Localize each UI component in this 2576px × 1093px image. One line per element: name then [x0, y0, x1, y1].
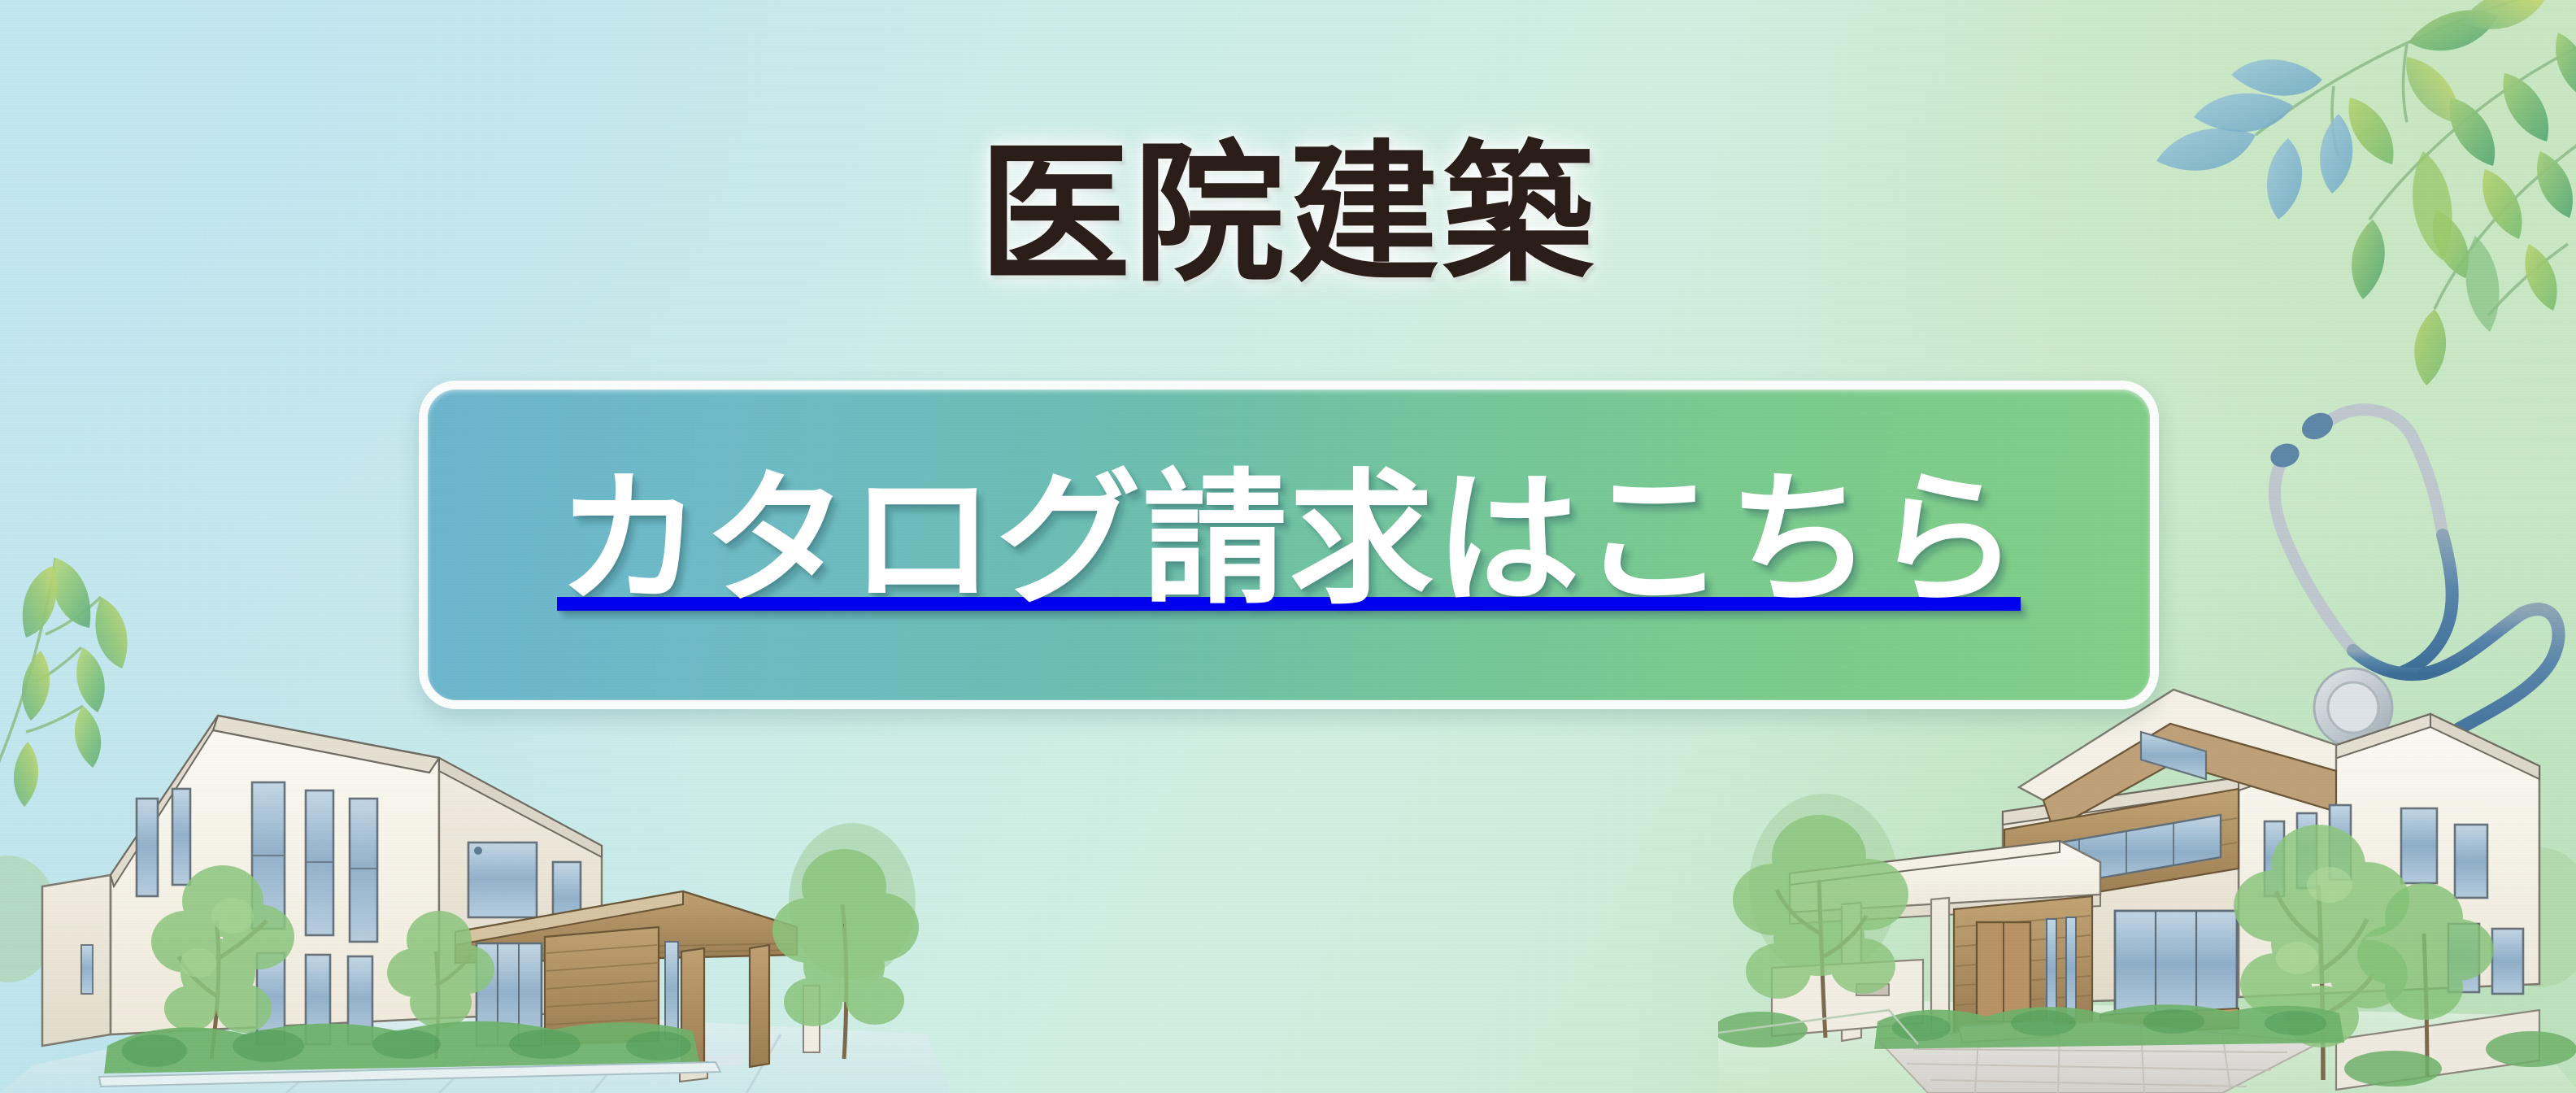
- clinic-building-right-illustration: [1718, 681, 2576, 1093]
- catalog-request-button[interactable]: カタログ請求はこちら: [419, 381, 2159, 709]
- stethoscope-icon: [2194, 382, 2568, 838]
- clinic-building-left-illustration: [0, 683, 951, 1093]
- banner-root: 医院建築 カタログ請求はこちら: [0, 0, 2576, 1093]
- page-title: 医院建築: [0, 140, 2576, 291]
- catalog-request-button-label: カタログ請求はこちら: [557, 468, 2021, 612]
- leaf-branch-bottom-left-icon: [0, 488, 244, 830]
